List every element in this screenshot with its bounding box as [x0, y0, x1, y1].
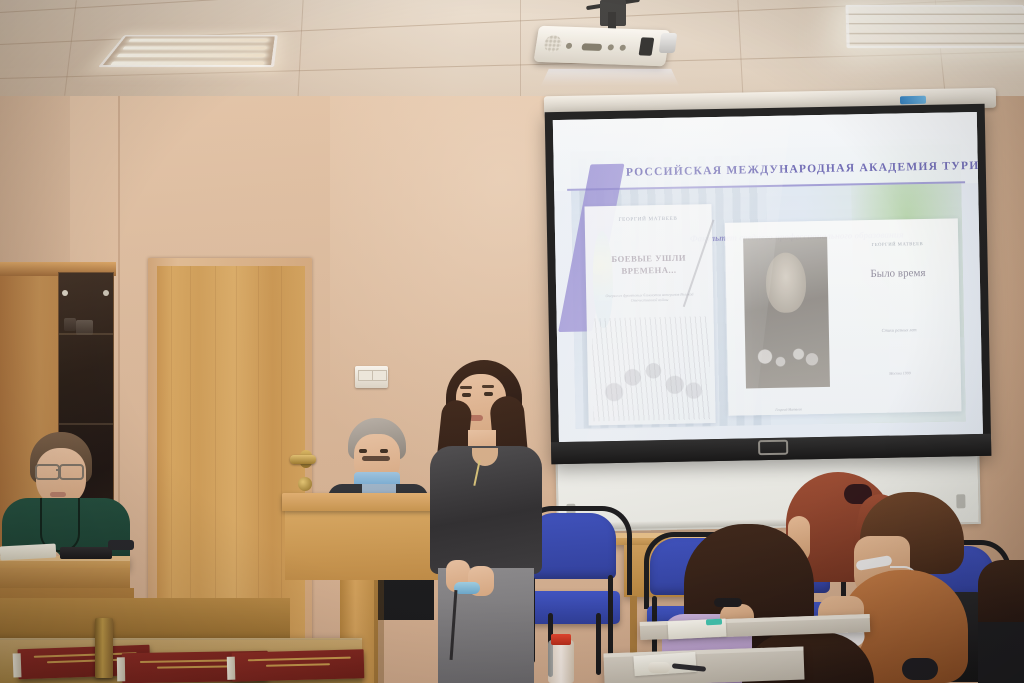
highlighter-pen [706, 619, 722, 626]
slide-book-left-illustration [591, 316, 710, 421]
door-handle[interactable] [290, 455, 316, 464]
bracelet [714, 598, 742, 607]
mouth [50, 492, 66, 497]
cabinet-knob[interactable] [62, 290, 68, 296]
slide-book-right-subtitle: Стихи разных лет [848, 327, 951, 334]
recessed-louver-panel-left-icon [98, 35, 278, 67]
torso [978, 622, 1024, 683]
hair [978, 560, 1024, 630]
slide-book-right-title: Было время [847, 265, 950, 283]
eye [484, 392, 493, 396]
eyeglasses-right-lens [59, 464, 84, 480]
slide-book-right-author: ГЕОРГИЙ МАТВЕЕВ [846, 240, 949, 247]
wall-light-switch[interactable] [355, 366, 388, 388]
eye [462, 393, 471, 397]
slide-open-book-spread: Георгий Матвеев ГЕОРГИЙ МАТВЕЕВ Было вре… [724, 219, 961, 417]
recessed-louver-panel-right-icon [845, 5, 1024, 48]
pull-down-projection-screen: РОССИЙСКАЯ МЕЖДУНАРОДНАЯ АКАДЕМИЯ ТУРИЗМ… [545, 104, 992, 464]
slide-book-cover-left: ГЕОРГИЙ МАТВЕЕВ БОЕВЫЕ УШЛИ ВРЕМЕНА... О… [584, 204, 715, 425]
podium-column-shadow [374, 578, 384, 683]
eye [380, 449, 388, 453]
remote-control [108, 540, 134, 550]
door-lock-icon[interactable] [298, 477, 312, 491]
desk-left-apron [0, 568, 130, 588]
slide-book-left-author: ГЕОРГИЙ МАТВЕЕВ [584, 215, 711, 223]
ceiling-tile-line [520, 0, 521, 100]
cup-in-cabinet [76, 320, 93, 335]
eyebrow [482, 385, 494, 388]
face-mask-held [454, 582, 480, 594]
presentation-slide: РОССИЙСКАЯ МЕЖДУНАРОДНАЯ АКАДЕМИЯ ТУРИЗМ… [553, 112, 983, 442]
projection-surface: РОССИЙСКАЯ МЕЖДУНАРОДНАЯ АКАДЕМИЯ ТУРИЗМ… [553, 112, 983, 442]
eye [359, 449, 367, 453]
water-bottle[interactable] [548, 640, 574, 683]
slide-book-right-imprint: Москва 1999 [849, 369, 952, 376]
hair-scrunchie [902, 658, 938, 680]
eraser [648, 662, 670, 673]
projection-screen-brand-badge [900, 96, 926, 104]
cup-in-cabinet [64, 318, 76, 331]
dark-folder [60, 547, 112, 559]
desk-leg [630, 596, 637, 656]
slide-veteran-portrait [743, 237, 830, 389]
display-book-3[interactable] [232, 649, 365, 681]
student-far-right [978, 560, 1024, 683]
eyebrow [460, 386, 472, 389]
projector-light-beam [541, 69, 680, 86]
presenter-standing [424, 360, 550, 683]
eyeglasses-left-lens [35, 464, 60, 480]
mustache [362, 456, 390, 461]
eyeglasses-bridge [56, 469, 61, 471]
bottle-cap[interactable] [551, 634, 571, 645]
classroom-photo-scene: РОССИЙСКАЯ МЕЖДУНАРОДНАЯ АКАДЕМИЯ ТУРИЗМ… [0, 0, 1024, 683]
projection-screen-pull-handle[interactable] [758, 440, 788, 456]
artillery-shell-casing[interactable] [95, 618, 113, 678]
slide-portrait-caption: Георгий Матвеев [747, 406, 831, 412]
ceiling-projector [533, 26, 670, 67]
projector-lens [659, 33, 677, 53]
cabinet-hinge [103, 290, 109, 296]
papers-on-desk [0, 544, 56, 561]
